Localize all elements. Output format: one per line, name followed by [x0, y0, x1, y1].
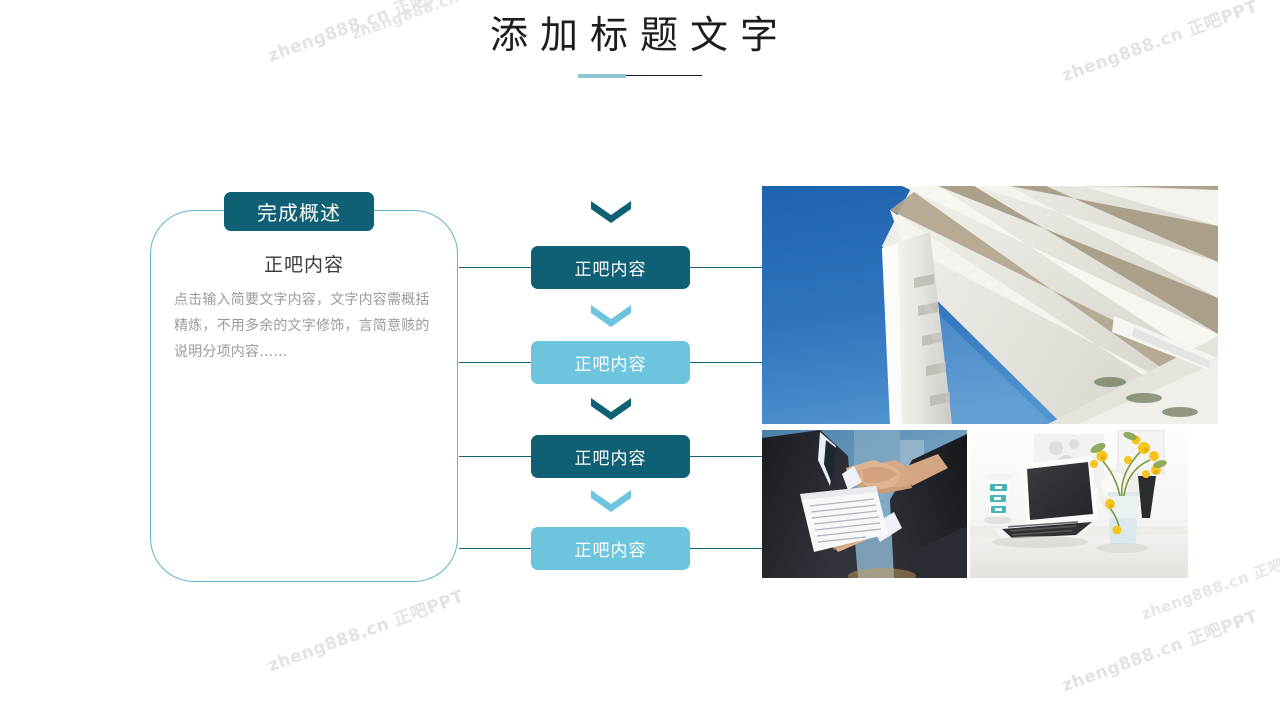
overview-heading: 正吧内容 [150, 250, 458, 277]
page-title: 添加标题文字 [0, 14, 1280, 58]
chevron-down-icon [591, 199, 631, 225]
overview-badge[interactable]: 完成概述 [224, 192, 374, 231]
chevron-down-icon [591, 488, 631, 514]
title-underline-line [626, 75, 702, 76]
flow-step-3-label: 正吧内容 [575, 444, 647, 469]
image-office-building [762, 186, 1218, 424]
flow-step-2-label: 正吧内容 [575, 350, 647, 375]
image-laptop-desk [970, 430, 1188, 578]
watermark: zheng888.cn 正吧PPT [264, 582, 467, 676]
connector-left-2 [459, 362, 531, 363]
slide-canvas: zheng888.cn 正吧PPT zheng888.cn 正吧PPT zhen… [0, 0, 1280, 720]
flow-step-3[interactable]: 正吧内容 [531, 435, 690, 478]
connector-left-1 [459, 267, 531, 268]
flow-step-1[interactable]: 正吧内容 [531, 246, 690, 289]
overview-body-text: 点击输入简要文字内容，文字内容需概括精炼，不用多余的文字修饰，言简意赅的说明分项… [174, 287, 436, 365]
chevron-down-icon [591, 303, 631, 329]
connector-right-2 [690, 362, 762, 363]
title-underline [578, 74, 702, 78]
image-business-handshake [762, 430, 967, 578]
page-title-text: 添加标题文字 [490, 13, 790, 57]
overview-badge-label: 完成概述 [257, 197, 341, 226]
flow-step-1-label: 正吧内容 [575, 255, 647, 280]
chevron-down-icon [591, 396, 631, 422]
connector-right-4 [690, 548, 762, 549]
flow-step-4-label: 正吧内容 [575, 536, 647, 561]
flow-step-4[interactable]: 正吧内容 [531, 527, 690, 570]
connector-right-3 [690, 456, 762, 457]
flow-step-2[interactable]: 正吧内容 [531, 341, 690, 384]
connector-left-3 [459, 456, 531, 457]
title-underline-accent [578, 74, 626, 78]
connector-left-4 [459, 548, 531, 549]
connector-right-1 [690, 267, 762, 268]
